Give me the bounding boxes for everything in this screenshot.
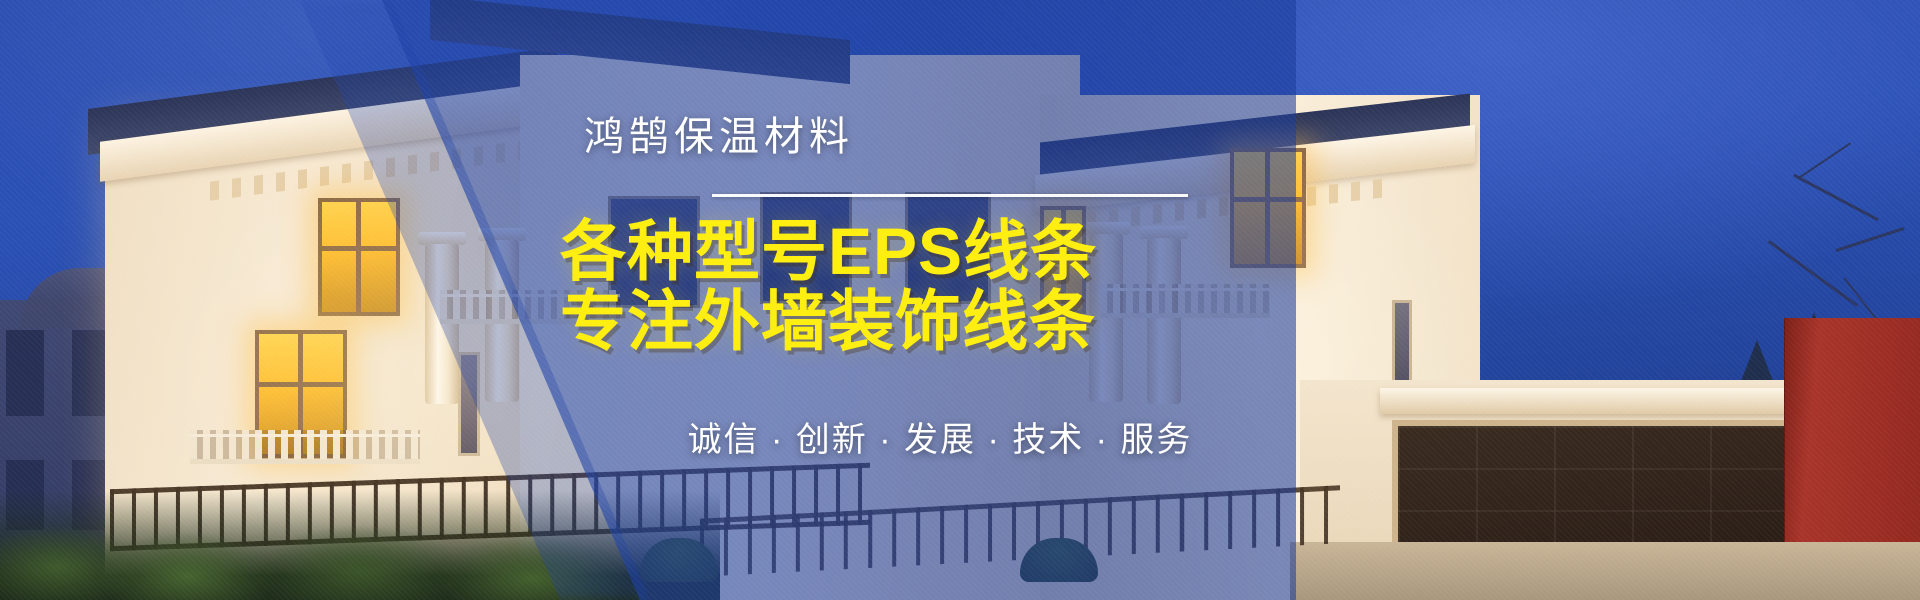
- banner-text-block: 鸿鹄保温材料 各种型号EPS线条 专注外墙装饰线条 诚信 · 创新 · 发展 ·…: [560, 0, 1320, 600]
- tagline: 诚信 · 创新 · 发展 · 技术 · 服务: [560, 412, 1320, 461]
- headline-line-2: 专注外墙装饰线条: [560, 268, 1320, 364]
- hero-banner: 鸿鹄保温材料 各种型号EPS线条 专注外墙装饰线条 诚信 · 创新 · 发展 ·…: [0, 0, 1920, 600]
- divider-rule: [712, 194, 1188, 197]
- brand-name: 鸿鹄保温材料: [584, 104, 854, 162]
